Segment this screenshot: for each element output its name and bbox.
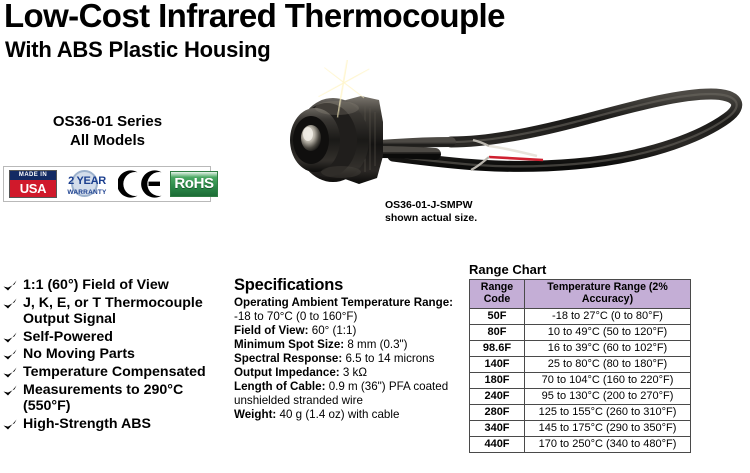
spec-label: Spectral Response: [234,352,342,365]
list-item: Measurements to 290°C (550°F) [2,382,230,415]
checkmark-icon [3,332,17,344]
checkmark-icon [3,280,17,292]
checkmark-icon [3,367,17,379]
cell-temperature-range: 145 to 175°C (290 to 350°F) [525,421,691,437]
spec-value: 6.5 to 14 microns [345,352,434,365]
list-item: High-Strength ABS [2,416,230,433]
page-title: Low-Cost Infrared Thermocouple [4,0,505,34]
spec-label: Weight: [234,408,276,421]
checkmark-icon [3,349,17,361]
photo-caption-model: OS36-01-J-SMPW [385,199,477,212]
table-row: 180F 70 to 104°C (160 to 220°F) [470,373,691,389]
series-block: OS36-01 Series All Models [0,112,215,150]
table-row: 140F 25 to 80°C (80 to 180°F) [470,357,691,373]
cell-temperature-range: 25 to 80°C (80 to 180°F) [525,357,691,373]
list-item: 1:1 (60°) Field of View [2,277,230,294]
list-item-label: Self-Powered [23,329,113,345]
series-models: All Models [0,131,215,150]
certification-badge-strip: MADE IN USA 2 YEAR WARRANTY RoHS [3,166,211,202]
made-in-usa-badge: MADE IN USA [9,170,57,198]
table-row: 98.6F 16 to 39°C (60 to 102°F) [470,341,691,357]
list-item-label: High-Strength ABS [23,416,151,432]
cell-range-code: 50F [470,309,525,325]
cell-temperature-range: 170 to 250°C (340 to 480°F) [525,437,691,453]
spec-row: Field of View: 60° (1:1) [234,324,466,338]
spec-value: -18 to 70°C (0 to 160°F) [234,310,357,323]
spec-label: Length of Cable: [234,380,325,393]
feature-list: 1:1 (60°) Field of View J, K, E, or T Th… [2,277,230,433]
spec-value: 8 mm (0.3") [347,338,407,351]
column-header-range-code: Range Code [470,280,525,309]
table-row: 340F 145 to 175°C (290 to 350°F) [470,421,691,437]
list-item: Temperature Compensated [2,364,230,381]
column-header-temperature-range: Temperature Range (2% Accuracy) [525,280,691,309]
specifications-heading: Specifications [234,276,466,295]
spec-row: Length of Cable: 0.9 m (36") PFA coated … [234,380,466,407]
cell-range-code: 440F [470,437,525,453]
spec-value: 40 g (1.4 oz) with cable [280,408,400,421]
spec-value: 3 kΩ [343,366,367,379]
spec-row: Spectral Response: 6.5 to 14 microns [234,352,466,366]
spec-value: 60° (1:1) [312,324,357,337]
table-row: 80F 10 to 49°C (50 to 120°F) [470,325,691,341]
made-in-usa-top-label: MADE IN [10,171,56,180]
table-row: 50F -18 to 27°C (0 to 80°F) [470,309,691,325]
datasheet-page: Low-Cost Infrared Thermocouple With ABS … [0,0,750,473]
list-item-label: J, K, E, or T Thermocouple Output Signal [23,295,203,328]
cell-temperature-range: 16 to 39°C (60 to 102°F) [525,341,691,357]
cell-range-code: 80F [470,325,525,341]
table-row: 240F 95 to 130°C (200 to 270°F) [470,389,691,405]
checkmark-icon [3,385,17,397]
cell-temperature-range: 10 to 49°C (50 to 120°F) [525,325,691,341]
cell-temperature-range: -18 to 27°C (0 to 80°F) [525,309,691,325]
product-photo [275,60,750,210]
cell-temperature-range: 125 to 155°C (260 to 310°F) [525,405,691,421]
warranty-word-label: WARRANTY [62,189,112,196]
rohs-badge: RoHS [170,171,218,197]
photo-caption: OS36-01-J-SMPW shown actual size. [385,199,477,224]
list-item: Self-Powered [2,329,230,346]
spec-label: Operating Ambient Temperature Range: [234,296,453,309]
warranty-years-label: 2 YEAR [62,175,112,187]
table-header-row: Range Code Temperature Range (2% Accurac… [470,280,691,309]
list-item-label: No Moving Parts [23,346,135,362]
spec-label: Minimum Spot Size: [234,338,344,351]
cell-range-code: 240F [470,389,525,405]
cell-range-code: 140F [470,357,525,373]
ce-mark-icon [118,169,164,199]
series-name: OS36-01 Series [0,112,215,131]
list-item-label: Measurements to 290°C (550°F) [23,382,183,415]
cell-temperature-range: 70 to 104°C (160 to 220°F) [525,373,691,389]
spec-row: Operating Ambient Temperature Range: -18… [234,296,466,323]
page-subtitle: With ABS Plastic Housing [5,37,271,62]
checkmark-icon [3,419,17,431]
cell-range-code: 280F [470,405,525,421]
list-item: J, K, E, or T Thermocouple Output Signal [2,295,230,328]
range-chart-title: Range Chart [469,262,691,277]
made-in-usa-bottom-label: USA [10,180,56,197]
specifications-section: Specifications Operating Ambient Tempera… [234,276,466,422]
cell-range-code: 180F [470,373,525,389]
list-item-label: 1:1 (60°) Field of View [23,277,169,293]
list-item: No Moving Parts [2,346,230,363]
table-row: 440F 170 to 250°C (340 to 480°F) [470,437,691,453]
range-chart-table: Range Code Temperature Range (2% Accurac… [469,279,691,453]
list-item-label: Temperature Compensated [23,364,206,380]
spec-label: Output Impedance: [234,366,340,379]
cell-range-code: 340F [470,421,525,437]
cell-temperature-range: 95 to 130°C (200 to 270°F) [525,389,691,405]
spec-row: Output Impedance: 3 kΩ [234,366,466,380]
spec-row: Weight: 40 g (1.4 oz) with cable [234,408,466,422]
checkmark-icon [3,298,17,310]
cell-range-code: 98.6F [470,341,525,357]
photo-caption-note: shown actual size. [385,212,477,225]
table-row: 280F 125 to 155°C (260 to 310°F) [470,405,691,421]
spec-row: Minimum Spot Size: 8 mm (0.3") [234,338,466,352]
two-year-warranty-badge: 2 YEAR WARRANTY [62,169,112,199]
spec-label: Field of View: [234,324,309,337]
range-chart-section: Range Chart Range Code Temperature Range… [469,262,691,453]
